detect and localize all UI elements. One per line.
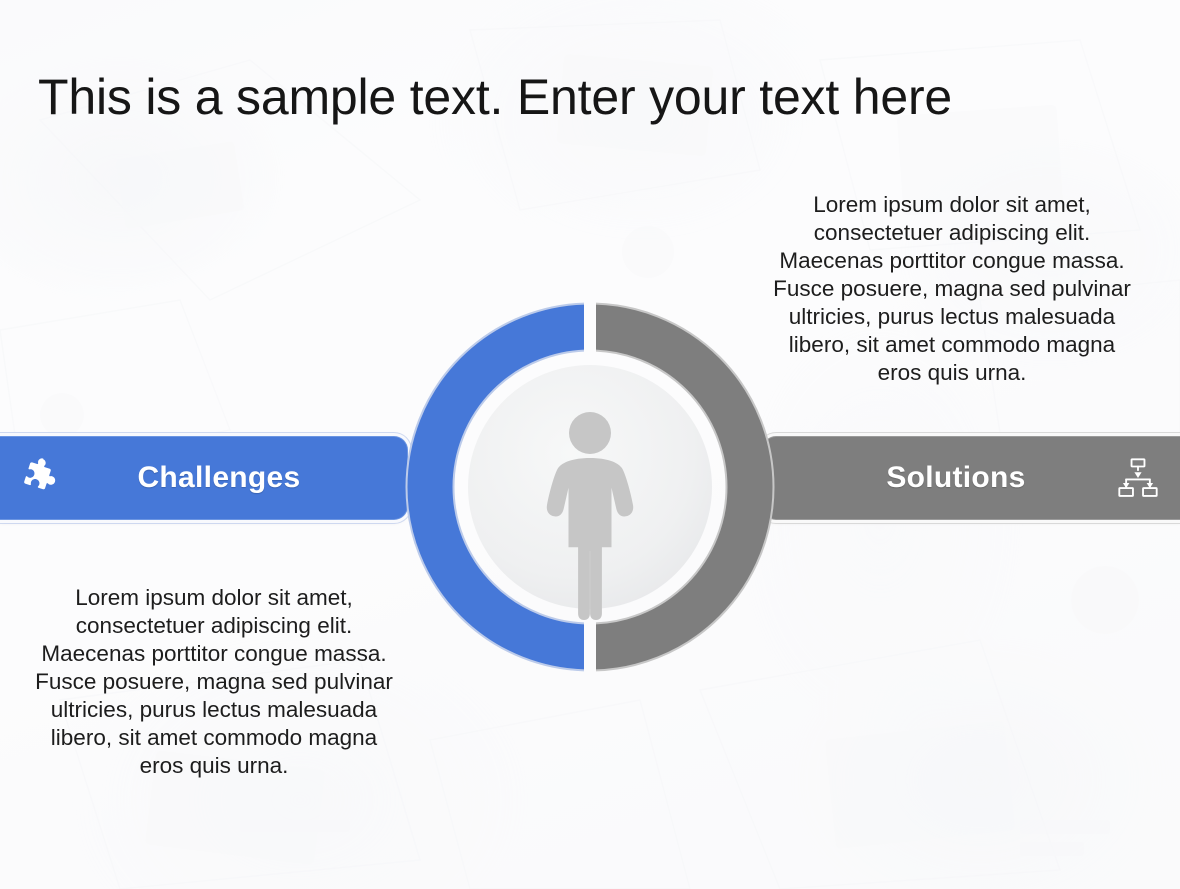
challenges-body-text: Lorem ipsum dolor sit amet, consectetuer…: [28, 584, 400, 781]
challenges-banner[interactable]: Challenges: [0, 436, 408, 520]
challenges-banner-label: Challenges: [70, 461, 374, 495]
hierarchy-icon: [1110, 450, 1166, 506]
slide-canvas: This is a sample text. Enter your text h…: [0, 0, 1180, 889]
solutions-body-text: Lorem ipsum dolor sit amet, consectetuer…: [768, 191, 1136, 388]
puzzle-piece-icon: [14, 450, 70, 506]
solutions-banner-label: Solutions: [796, 461, 1110, 495]
page-title: This is a sample text. Enter your text h…: [38, 70, 1098, 124]
solutions-banner[interactable]: Solutions: [762, 436, 1180, 520]
center-graphic: [405, 302, 775, 672]
